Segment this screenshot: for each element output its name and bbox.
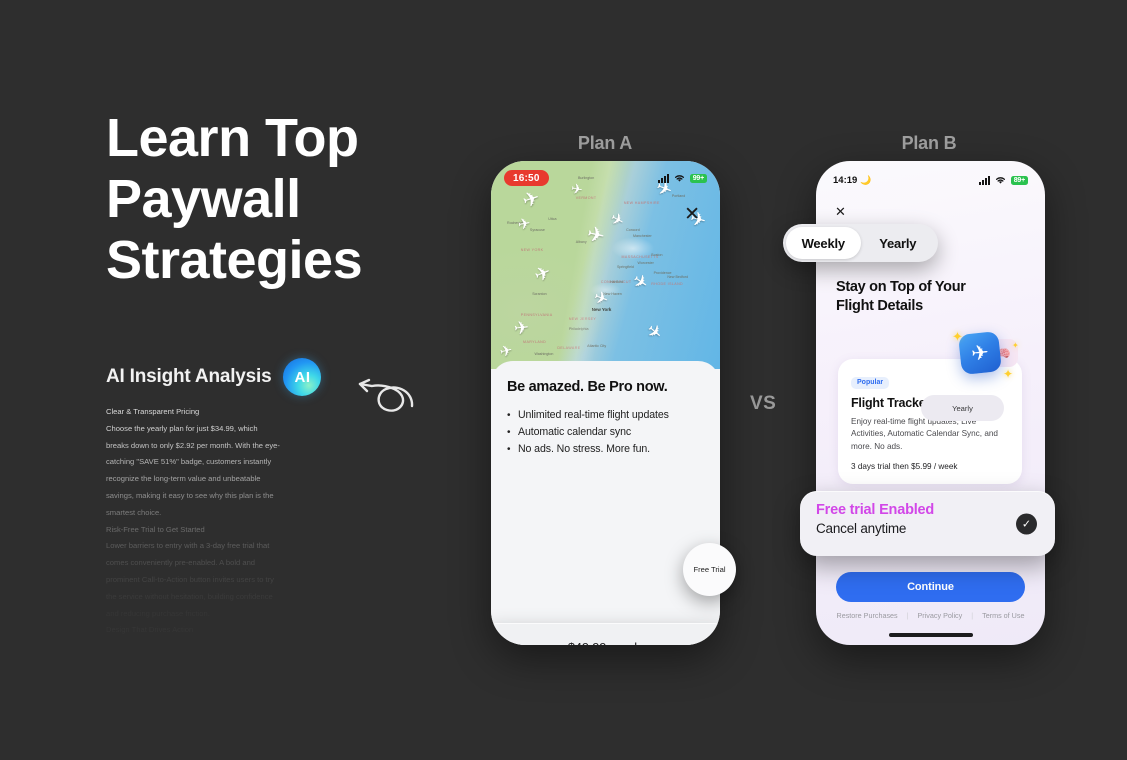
ai-line: Risk-Free Trial to Get Started [106, 522, 302, 539]
map-city-label: Philadelphia [569, 327, 589, 331]
segment-option-weekly[interactable]: Weekly [786, 227, 861, 259]
map-city-label: Scranton [532, 292, 546, 296]
billing-period-segmented-control[interactable]: Weekly Yearly [783, 224, 938, 262]
ai-insight-title: AI Insight Analysis [106, 366, 271, 388]
ai-line: the service without hesitation, building… [106, 589, 302, 606]
battery-indicator: 99+ [690, 174, 707, 183]
ai-line: Lower barriers to entry with a 3-day fre… [106, 538, 302, 555]
ai-line: smartest choice. [106, 505, 302, 522]
paywall-headline: Stay on Top of Your Flight Details [836, 278, 996, 316]
feature-list: Unlimited real-time flight updatesAutoma… [507, 407, 704, 458]
map-city-label: Hartford [610, 280, 623, 284]
price-option-row[interactable]: $49.99 yearly › [491, 623, 720, 645]
status-bar: 16:50 99+ [491, 170, 720, 186]
map-city-label: Rochester [507, 221, 523, 225]
segment-ghost-yearly[interactable]: Yearly [921, 395, 1004, 421]
battery-indicator: 89+ [1011, 176, 1028, 185]
product-description: Enjoy real-time flight updates, Live Act… [851, 416, 1009, 454]
status-indicators: 99+ [658, 174, 707, 183]
feature-item: Unlimited real-time flight updates [507, 407, 704, 424]
divider: | [907, 611, 909, 620]
map-plane-icon[interactable]: ✈ [532, 263, 554, 287]
map-city-label: Atlantic City [587, 344, 606, 348]
map-city-label: Washington [535, 352, 554, 356]
map-city-label: New Bedford [667, 275, 688, 279]
airplane-app-icon: ✈ [958, 331, 1002, 375]
ai-insight-body: Clear & Transparent Pricing Choose the y… [106, 404, 302, 639]
map-city-label: Springfield [617, 265, 634, 269]
feature-item: Automatic calendar sync [507, 424, 704, 441]
price-label: $49.99 yearly [568, 640, 643, 646]
status-bar: 14:19 🌙 89+ [816, 175, 1045, 186]
map-state-label: NEW JERSEY [569, 317, 596, 321]
close-icon[interactable]: ✕ [684, 205, 700, 224]
free-trial-subtitle: Cancel anytime [816, 521, 1039, 536]
legal-footer: Restore Purchases | Privacy Policy | Ter… [816, 611, 1045, 620]
map-city-label: New Haven [603, 292, 622, 296]
sparkle-icon: ✦ [952, 329, 963, 345]
map-state-label: MASSACHUSETTS [622, 255, 659, 259]
ai-line: savings, making it easy to see why this … [106, 488, 302, 505]
close-icon[interactable]: ✕ [835, 204, 846, 220]
segment-option-yearly[interactable]: Yearly [861, 227, 936, 259]
continue-button[interactable]: Continue [836, 572, 1025, 602]
check-circle-icon[interactable]: ✓ [1016, 513, 1037, 534]
map-city-label: Worcester [638, 261, 654, 265]
status-time: 16:50 [504, 170, 549, 186]
map-plane-icon[interactable]: ✈ [629, 271, 652, 294]
ai-line: Choose the yearly plan for just $34.99, … [106, 421, 302, 438]
map-state-label: NEW HAMPSHIRE [624, 201, 660, 205]
free-trial-callout-bubble[interactable]: Free Trial [683, 543, 736, 596]
map-state-label: NEW YORK [521, 248, 544, 252]
restore-purchases-link[interactable]: Restore Purchases [837, 611, 898, 620]
ai-line: recognize the long-term value and unbeat… [106, 471, 302, 488]
status-time: 14:19 [833, 175, 857, 186]
ai-insight-header: AI Insight Analysis AI [106, 358, 321, 396]
map-city-label: Albany [576, 240, 587, 244]
map-plane-icon[interactable]: ✈ [643, 320, 666, 343]
signal-bars-icon [658, 174, 669, 183]
map-state-label: CONNECTICUT [601, 280, 632, 284]
flight-map[interactable]: VERMONTNEW HAMPSHIREMASSACHUSETTSCONNECT… [491, 161, 720, 369]
map-city-label: Portland [672, 194, 685, 198]
map-state-label: DELAWARE [557, 346, 580, 350]
sparkle-icon: ✦ [1003, 367, 1013, 381]
feature-item: No ads. No stress. More fun. [507, 441, 704, 458]
wifi-icon [995, 176, 1006, 185]
plan-b-label: Plan B [854, 133, 1004, 154]
paywall-sheet: Be amazed. Be Pro now. Unlimited real-ti… [491, 361, 720, 645]
popular-badge: Popular [851, 377, 889, 389]
map-state-label: PENNSYLVANIA [521, 313, 553, 317]
map-plane-markers: ✈✈✈✈✈✈✈✈✈✈✈✈✈ [491, 161, 720, 369]
map-terrain [491, 161, 720, 369]
status-time-group: 14:19 🌙 [833, 175, 872, 186]
sparkle-icon: ✦ [1012, 341, 1019, 350]
map-city-label: Utica [548, 217, 556, 221]
ai-line: and reducing purchase friction. [106, 606, 302, 623]
ai-line: breaks down to only $2.92 per month. Wit… [106, 438, 302, 455]
privacy-policy-link[interactable]: Privacy Policy [918, 611, 963, 620]
map-state-label: MARYLAND [523, 340, 546, 344]
map-plane-icon[interactable]: ✈ [499, 343, 515, 361]
continue-label: Continue [907, 581, 954, 593]
product-card[interactable]: Popular Flight Tracker Pro Enjoy real-ti… [838, 359, 1022, 484]
map-plane-icon[interactable]: ✈ [520, 188, 542, 212]
status-indicators: 89+ [979, 176, 1028, 185]
terms-of-use-link[interactable]: Terms of Use [982, 611, 1024, 620]
map-plane-icon[interactable]: ✈ [592, 288, 611, 309]
product-trial-price: 3 days trial then $5.99 / week [851, 462, 1009, 471]
ai-line: prominent Call-to-Action button invites … [106, 572, 302, 589]
signal-bars-icon [979, 176, 990, 185]
map-plane-icon[interactable]: ✈ [513, 318, 530, 337]
map-city-label: Providence [654, 271, 672, 275]
page-title: Learn Top Paywall Strategies [106, 108, 486, 291]
home-indicator [889, 633, 973, 637]
plan-a-label: Plan A [530, 133, 680, 154]
map-plane-icon[interactable]: ✈ [585, 224, 607, 248]
map-plane-icon[interactable]: ✈ [607, 211, 626, 231]
vs-separator: VS [750, 393, 776, 415]
moon-icon: 🌙 [860, 175, 871, 186]
map-state-label: RHODE ISLAND [651, 282, 683, 286]
ai-line: Clear & Transparent Pricing [106, 404, 302, 421]
divider: | [971, 611, 973, 620]
map-labels: VERMONTNEW HAMPSHIREMASSACHUSETTSCONNECT… [491, 161, 720, 369]
ai-line: catching "SAVE 51%" badge, customers ins… [106, 454, 302, 471]
wifi-icon [674, 174, 685, 183]
poster-canvas: Learn Top Paywall Strategies AI Insight … [0, 0, 1127, 760]
chevron-right-icon: › [703, 639, 708, 646]
hand-drawn-arrow-icon [350, 374, 418, 420]
map-city-label: Syracuse [530, 228, 545, 232]
ai-badge-icon: AI [283, 358, 321, 396]
paywall-headline: Be amazed. Be Pro now. [507, 379, 704, 395]
map-state-label: VERMONT [576, 196, 597, 200]
ai-line: comes conveniently pre-enabled. A bold a… [106, 555, 302, 572]
free-trial-title: Free trial Enabled [816, 502, 1039, 518]
free-trial-toggle-card[interactable]: Free trial Enabled Cancel anytime ✓ [800, 491, 1055, 556]
map-city-label: Manchester [633, 234, 652, 238]
map-city-label: New York [592, 307, 612, 312]
ai-line: Design That Drives Action [106, 622, 302, 639]
map-city-label: Boston [651, 253, 662, 257]
map-plane-icon[interactable]: ✈ [517, 216, 532, 233]
map-city-label: Concord [626, 228, 640, 232]
